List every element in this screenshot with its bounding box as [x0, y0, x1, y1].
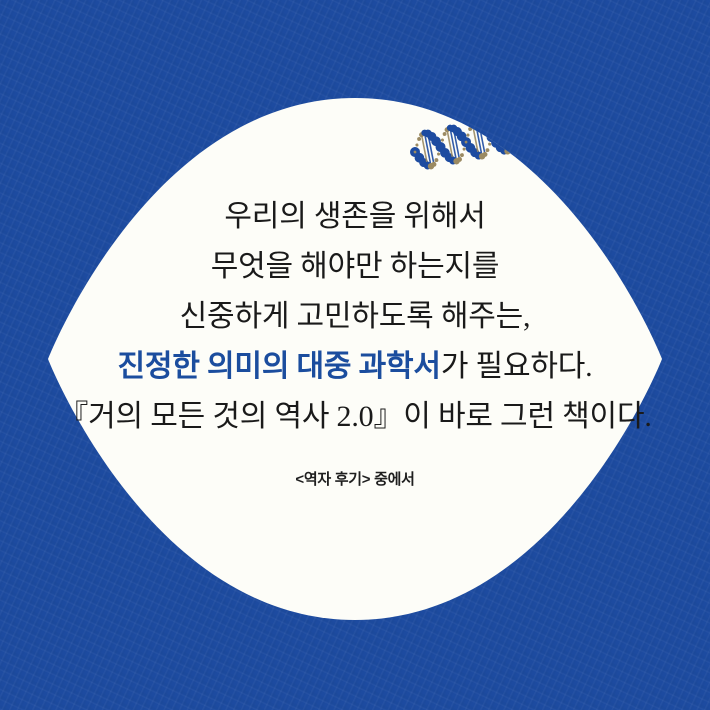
attribution-source: <역자 후기> 중에서 — [295, 468, 414, 489]
quote-line-4: 진정한 의미의 대중 과학서가 필요하다. — [118, 342, 593, 392]
quote-line-3: 신중하게 고민하도록 해주는, — [180, 292, 531, 342]
quote-line-1: 우리의 생존을 위해서 — [224, 192, 485, 242]
quote-content: 우리의 생존을 위해서 무엇을 해야만 하는지를 신중하게 고민하도록 해주는,… — [0, 0, 710, 710]
quote-line-5: 『거의 모든 것의 역사 2.0』이 바로 그런 책이다. — [58, 392, 651, 442]
quote-emphasis: 진정한 의미의 대중 과학서 — [118, 350, 441, 383]
quote-line-2: 무엇을 해야만 하는지를 — [211, 242, 500, 292]
quote-card: 우리의 생존을 위해서 무엇을 해야만 하는지를 신중하게 고민하도록 해주는,… — [0, 0, 710, 710]
quote-emphasis-tail: 가 필요하다. — [441, 350, 593, 383]
